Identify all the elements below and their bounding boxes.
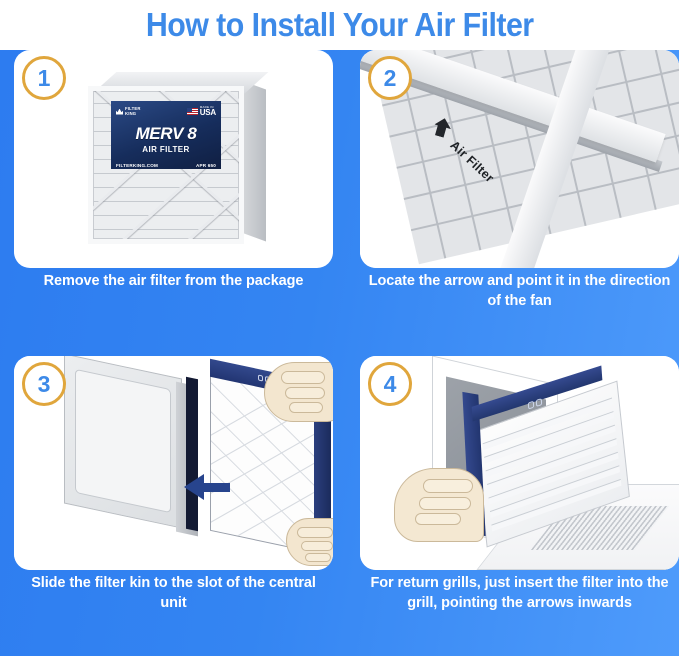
central-unit-body [64,356,182,529]
step-1-badge: 1 [22,56,66,100]
steps-board: 1 [0,50,679,656]
arrow-shaft [202,483,230,492]
steps-grid: 1 [0,50,679,656]
step-4-caption: For return grills, just insert the filte… [360,574,679,613]
filter-front-face: FILTER KING MADE IN USA [88,86,244,244]
product-label: FILTER KING MADE IN USA [111,101,221,169]
infographic-page: How to Install Your Air Filter 1 [0,0,679,656]
hand-upper [264,362,333,422]
made-in-usa-mark: MADE IN USA [187,106,216,117]
step-4-badge: 4 [368,362,412,406]
step-1-card: 1 [14,50,333,268]
insert-direction-arrow [184,474,230,500]
step-2-badge: 2 [368,56,412,100]
filter-king-logo: FILTER KING [116,107,141,116]
step-2-card: 2 [360,50,679,268]
step-3: 3 [14,356,333,656]
hand-lower [286,518,333,566]
merv-rating: MERV 8 [116,124,216,144]
arrow-head [184,474,204,500]
central-unit-panel [75,369,171,513]
label-subtitle: AIR FILTER [116,145,216,154]
step-2-caption: Locate the arrow and point it in the dir… [360,272,679,311]
step-3-caption: Slide the filter kin to the slot of the … [14,574,333,613]
made-in-usa-text: MADE IN USA [200,106,216,117]
page-title: How to Install Your Air Filter [146,6,534,44]
step-1-caption: Remove the air filter from the package [14,272,333,292]
brand-text: FILTER KING [125,107,141,116]
crown-icon [116,109,123,115]
label-top-row: FILTER KING MADE IN USA [116,105,216,118]
label-footer: FILTERKING.COM APR 650 [116,163,216,168]
label-apr: APR 650 [196,163,216,168]
label-website: FILTERKING.COM [116,163,158,168]
step-2: 2 [360,50,679,350]
step-4: 4 [360,356,679,656]
step-4-card: 4 [360,356,679,570]
step-3-card: 3 [14,356,333,570]
step-3-badge: 3 [22,362,66,406]
us-flag-icon [187,108,198,115]
filter-slot [186,377,198,532]
header-band: How to Install Your Air Filter [0,0,679,50]
step-1: 1 [14,50,333,350]
merv8-filter-photo: FILTER KING MADE IN USA [88,72,266,244]
hand-inserting-filter [394,468,484,542]
